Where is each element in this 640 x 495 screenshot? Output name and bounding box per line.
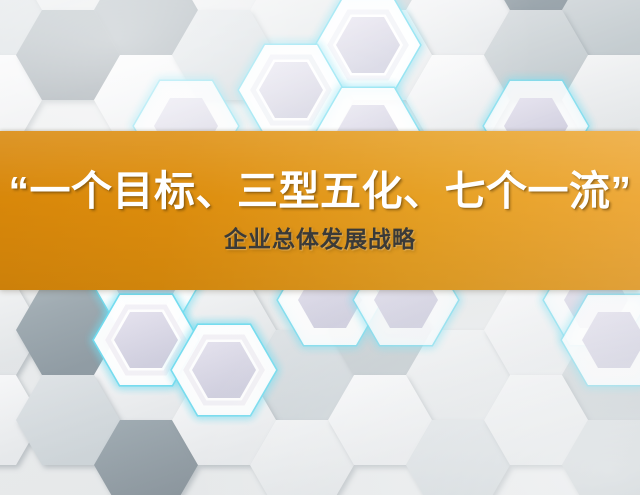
- presentation-slide: “一个目标、三型五化、七个一流” 企业总体发展战略: [0, 0, 640, 495]
- slide-subtitle: 企业总体发展战略: [224, 228, 416, 251]
- title-banner: “一个目标、三型五化、七个一流” 企业总体发展战略: [0, 131, 640, 290]
- slide-title: “一个目标、三型五化、七个一流”: [9, 171, 632, 212]
